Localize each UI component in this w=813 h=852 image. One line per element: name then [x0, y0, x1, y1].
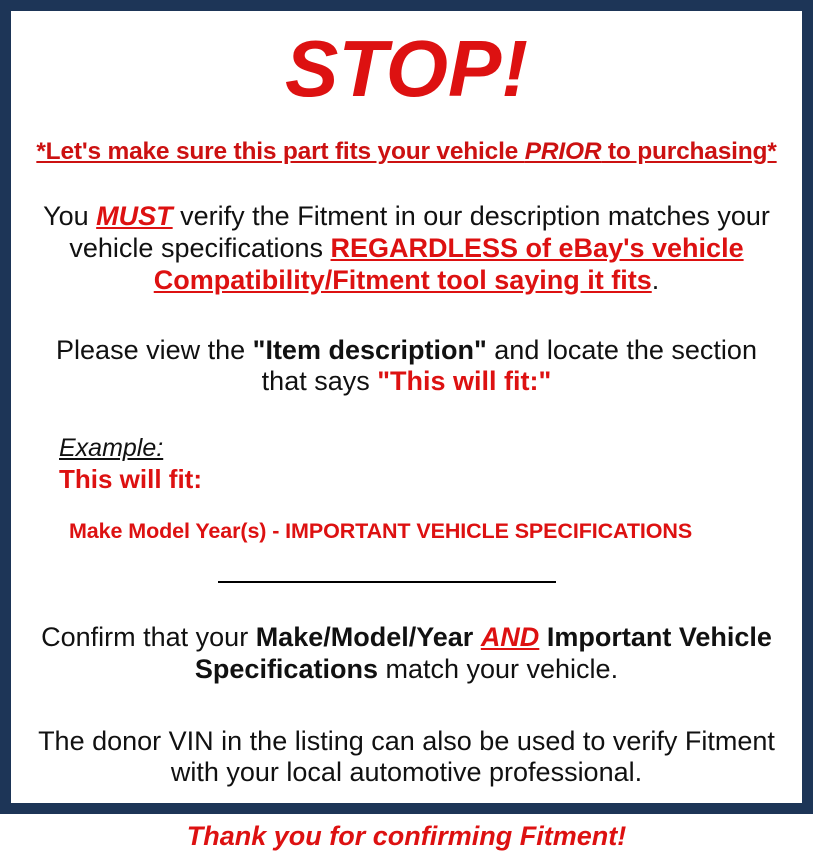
subtitle-text-after: to purchasing* — [601, 138, 776, 165]
this-will-fit-emphasis: "This will fit:" — [377, 366, 551, 396]
fitment-notice-card: STOP! *Let's make sure this part fits yo… — [0, 0, 813, 814]
item-description-emphasis: "Item description" — [253, 335, 487, 365]
must-text-1: You — [43, 201, 96, 231]
example-fit-line: This will fit: — [59, 462, 788, 495]
subtitle-text-before: *Let's make sure this part fits your veh… — [36, 138, 524, 165]
paragraph-view-description: Please view the "Item description" and l… — [25, 297, 788, 399]
paragraph-confirm-match: Confirm that your Make/Model/Year AND Im… — [25, 588, 788, 686]
paragraph-donor-vin: The donor VIN in the listing can also be… — [25, 686, 788, 790]
confirm-text-1: Confirm that your — [41, 622, 256, 652]
view-text-1: Please view the — [56, 335, 253, 365]
thank-you-message: Thank you for confirming Fitment! — [25, 789, 788, 852]
confirm-text-2: match your vehicle. — [378, 654, 618, 684]
make-model-year-emphasis: Make/Model/Year — [256, 622, 474, 652]
must-text-3: . — [652, 265, 660, 295]
confirm-space-2 — [539, 622, 547, 652]
example-block: Example: This will fit: Make Model Year(… — [25, 398, 788, 544]
example-label: Example: — [59, 434, 788, 462]
and-emphasis: AND — [481, 622, 540, 652]
page-title: STOP! — [25, 11, 788, 109]
example-spec-line: Make Model Year(s) - IMPORTANT VEHICLE S… — [59, 495, 788, 544]
confirm-space-1 — [473, 622, 481, 652]
divider-rule — [218, 581, 556, 583]
subtitle-emphasis-prior: PRIOR — [525, 138, 602, 165]
notice-content-area: STOP! *Let's make sure this part fits yo… — [11, 11, 802, 803]
must-emphasis: MUST — [96, 201, 173, 231]
paragraph-must-verify: You MUST verify the Fitment in our descr… — [25, 166, 788, 297]
divider — [25, 544, 788, 588]
subtitle-warning: *Let's make sure this part fits your veh… — [25, 109, 788, 166]
